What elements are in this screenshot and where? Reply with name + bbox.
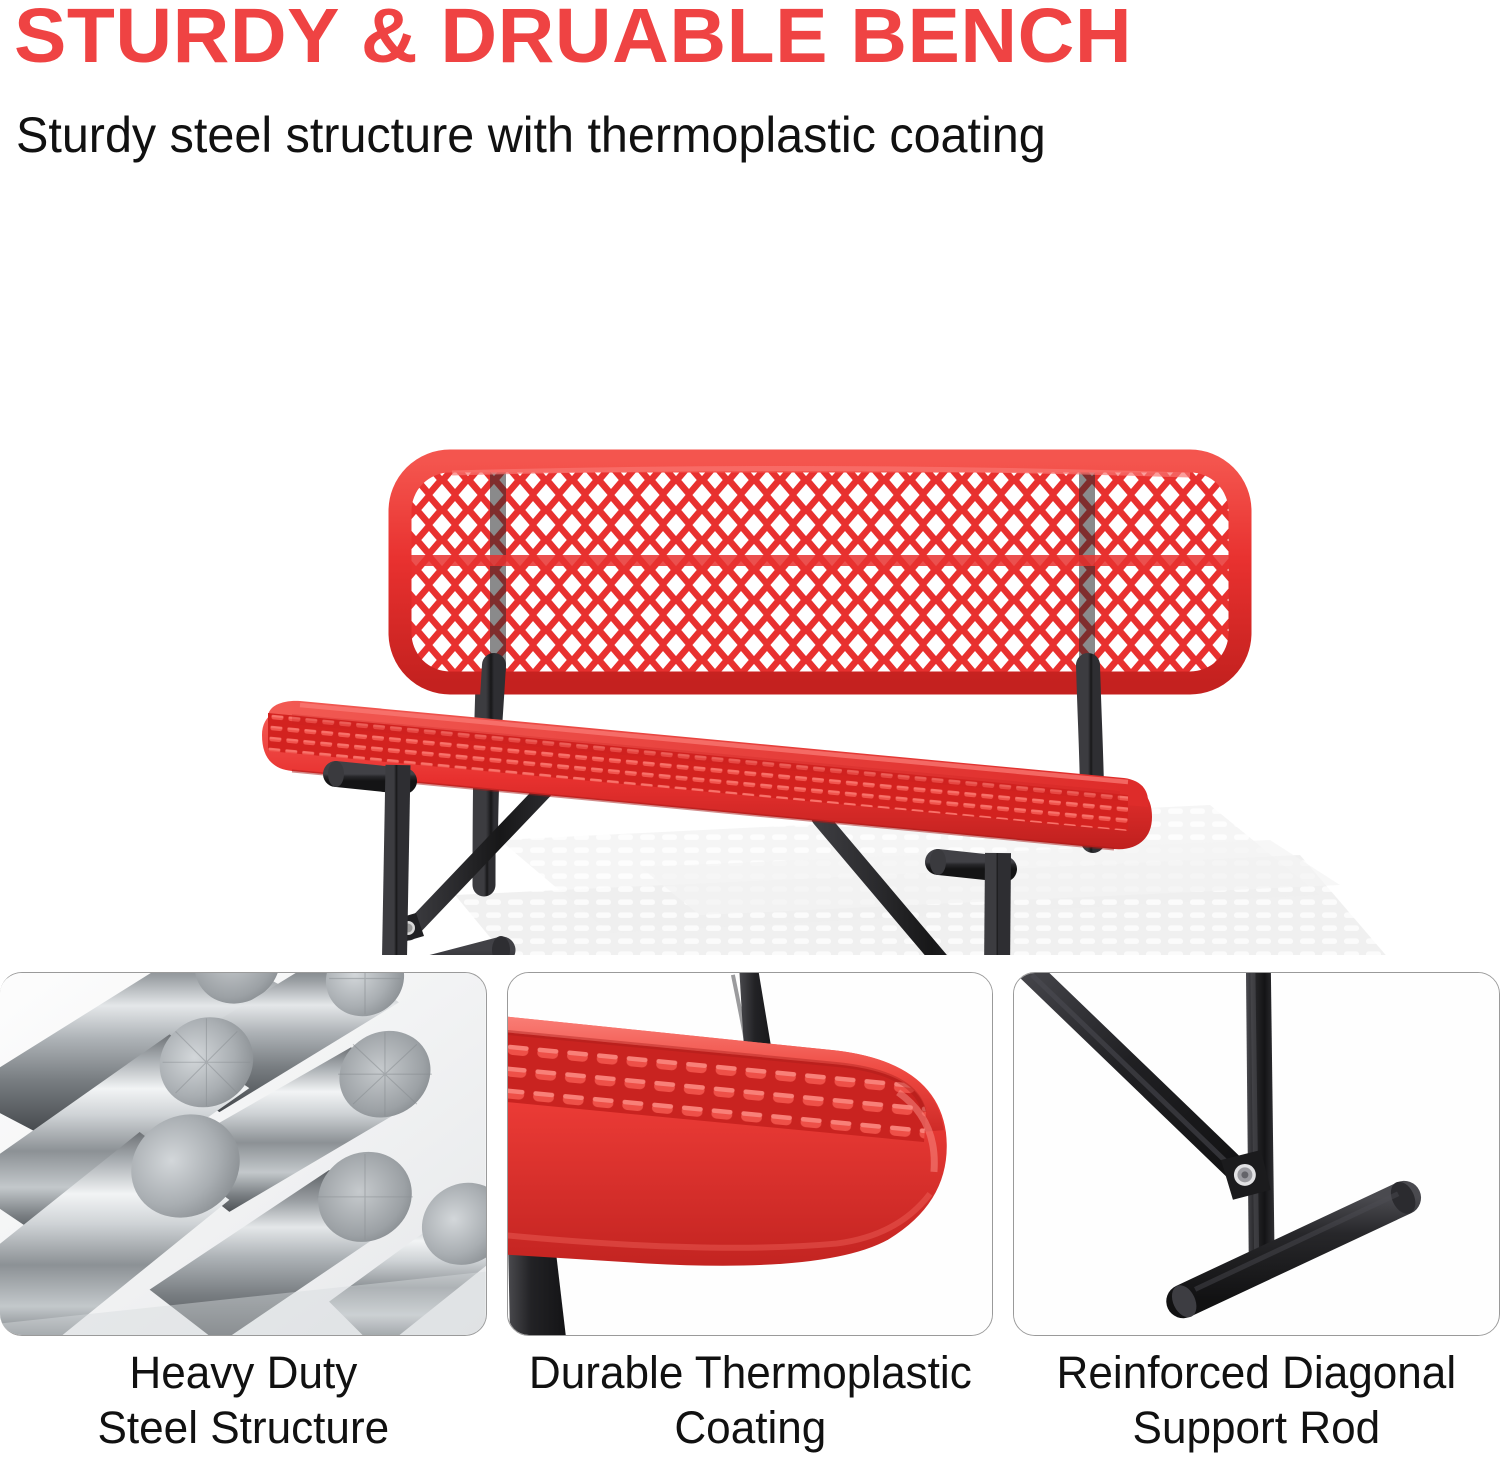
panel-heavy-duty-steel-structure bbox=[0, 972, 487, 1336]
thermoplastic-coating-image bbox=[508, 973, 993, 1335]
caption-line-2: Steel Structure bbox=[5, 1401, 482, 1456]
feature-panels bbox=[0, 972, 1500, 1336]
caption-line-1: Reinforced Diagonal bbox=[1057, 1347, 1457, 1398]
caption-line-2: Support Rod bbox=[1018, 1401, 1495, 1456]
caption-reinforced-diagonal-support-rod: Reinforced Diagonal Support Rod bbox=[1018, 1346, 1495, 1456]
page-title: STURDY & DRUABLE BENCH bbox=[14, 0, 1132, 79]
caption-line-1: Heavy Duty bbox=[129, 1347, 357, 1398]
product-infographic: STURDY & DRUABLE BENCH Sturdy steel stru… bbox=[0, 0, 1500, 1481]
panel-reinforced-diagonal-support-rod bbox=[1013, 972, 1500, 1336]
caption-line-1: Durable Thermoplastic bbox=[529, 1347, 972, 1398]
diagonal-support-rod-image bbox=[1014, 973, 1499, 1335]
hero-bench-image bbox=[0, 195, 1500, 955]
bench-backrest bbox=[400, 461, 1240, 683]
page-subtitle: Sturdy steel structure with thermoplasti… bbox=[16, 108, 1046, 163]
caption-heavy-duty-steel-structure: Heavy Duty Steel Structure bbox=[5, 1346, 482, 1456]
caption-line-2: Coating bbox=[512, 1401, 989, 1456]
caption-durable-thermoplastic-coating: Durable Thermoplastic Coating bbox=[512, 1346, 989, 1456]
panel-durable-thermoplastic-coating bbox=[507, 972, 994, 1336]
steel-rods-image bbox=[0, 973, 486, 1335]
feature-captions: Heavy Duty Steel Structure Durable Therm… bbox=[0, 1346, 1500, 1456]
